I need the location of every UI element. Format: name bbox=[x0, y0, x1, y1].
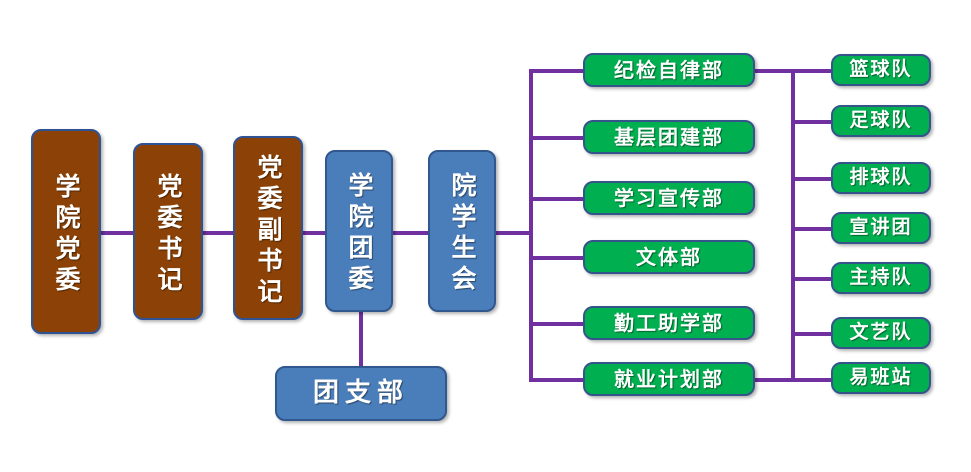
connector-dept1-to-teams-trunk bbox=[753, 69, 795, 73]
connector-team-7 bbox=[791, 378, 833, 382]
connector-dangwei-to-shuji bbox=[99, 231, 135, 235]
node-team-xuanjiang[interactable]: 宣讲团 bbox=[831, 212, 931, 244]
connector-team-1 bbox=[791, 69, 833, 73]
node-xueyuan-tuanwei[interactable]: 学院团委 bbox=[325, 150, 393, 312]
node-dept-jiceng-tuanjian[interactable]: 基层团建部 bbox=[583, 120, 755, 154]
connector-dept-2 bbox=[529, 136, 585, 140]
node-team-lanqiu[interactable]: 篮球队 bbox=[831, 54, 931, 86]
node-dept-qingong-zhuxue[interactable]: 勤工助学部 bbox=[583, 306, 755, 340]
connector-tuanwei-to-xueshenghui bbox=[393, 231, 428, 235]
org-chart-diagram: 学院党委 党委书记 党委副书记 学院团委 院学生会 团支部 纪检自律部 基层团建… bbox=[0, 0, 971, 472]
connector-tuanwei-to-tuanzhibu bbox=[359, 312, 363, 366]
node-team-zuqiu[interactable]: 足球队 bbox=[831, 105, 931, 137]
node-dept-jiuye-jihua[interactable]: 就业计划部 bbox=[583, 362, 755, 396]
connector-team-5 bbox=[791, 277, 833, 281]
node-dept-xuexi-xuanchuan[interactable]: 学习宣传部 bbox=[583, 181, 755, 215]
node-tuanzhibu[interactable]: 团支部 bbox=[275, 366, 447, 421]
node-dept-wenti[interactable]: 文体部 bbox=[583, 240, 755, 274]
connector-dept-4 bbox=[529, 256, 585, 260]
connector-dept-1 bbox=[529, 69, 585, 73]
node-dangwei-shuji[interactable]: 党委书记 bbox=[133, 143, 203, 320]
node-team-zhuchi[interactable]: 主持队 bbox=[831, 262, 931, 294]
connector-dept-3 bbox=[529, 197, 585, 201]
connector-dept-5 bbox=[529, 322, 585, 326]
node-team-paiqiu[interactable]: 排球队 bbox=[831, 162, 931, 194]
node-team-wenyi[interactable]: 文艺队 bbox=[831, 317, 931, 349]
connector-shuji-to-fushuji bbox=[203, 231, 235, 235]
connector-team-2 bbox=[791, 120, 833, 124]
connector-dept-6 bbox=[529, 378, 585, 382]
node-dept-jijian-zilv[interactable]: 纪检自律部 bbox=[583, 53, 755, 87]
connector-xueshenghui-to-trunk bbox=[496, 231, 533, 235]
node-dangwei-fushuji[interactable]: 党委副书记 bbox=[233, 136, 303, 320]
connector-dept6-to-teams-trunk bbox=[753, 378, 795, 382]
node-xueyuan-dangwei[interactable]: 学院党委 bbox=[31, 129, 101, 334]
connector-team-4 bbox=[791, 227, 833, 231]
node-yuan-xueshenghui[interactable]: 院学生会 bbox=[428, 150, 496, 312]
node-team-yibanzhan[interactable]: 易班站 bbox=[831, 362, 931, 394]
connector-team-6 bbox=[791, 332, 833, 336]
departments-trunk bbox=[529, 69, 533, 382]
connector-team-3 bbox=[791, 177, 833, 181]
